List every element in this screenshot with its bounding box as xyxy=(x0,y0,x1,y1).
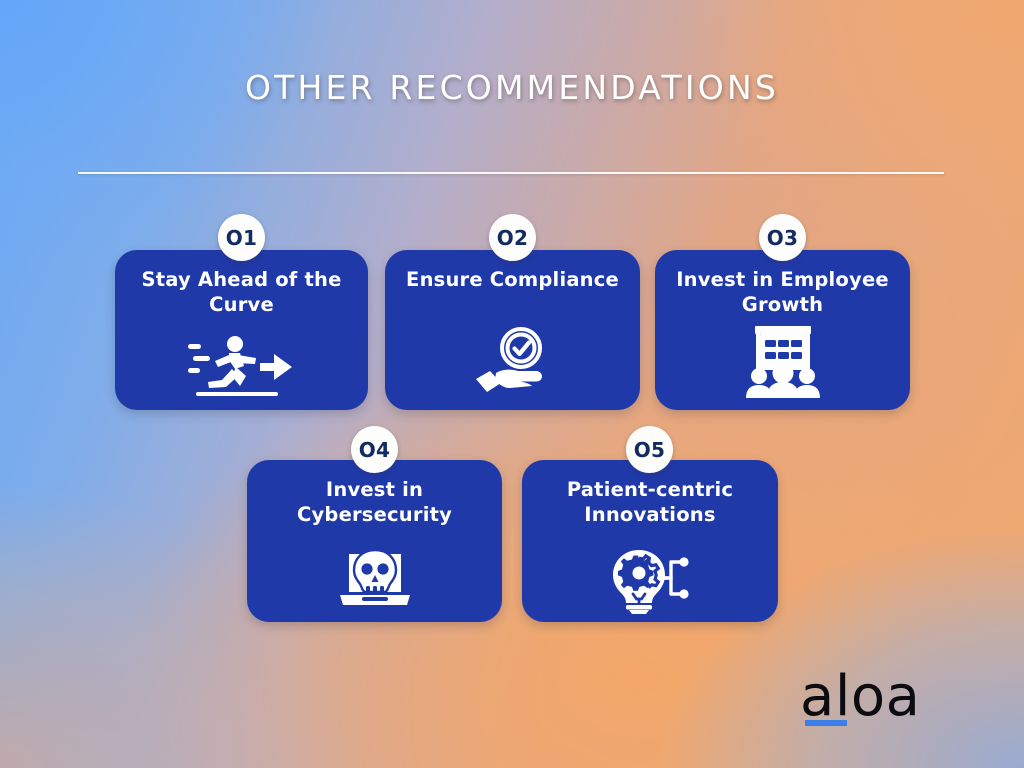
card-title-2: Ensure Compliance xyxy=(399,267,626,292)
training-presentation-people-icon xyxy=(655,326,910,398)
recommendation-card-4[interactable]: Invest in Cybersecurity xyxy=(247,460,502,622)
card-title-4: Invest in Cybersecurity xyxy=(261,477,488,527)
aloa-logo: aloa xyxy=(800,672,930,734)
lightbulb-gear-circuit-icon xyxy=(522,548,778,614)
recommendation-card-3[interactable]: Invest in Employee Growth xyxy=(655,250,910,410)
skull-laptop-icon xyxy=(247,548,502,610)
title-divider xyxy=(78,172,944,174)
card-badge-4: O4 xyxy=(351,426,398,473)
hand-checkmark-icon xyxy=(385,326,640,398)
logo-wordmark: aloa xyxy=(800,672,930,722)
card-badge-1: O1 xyxy=(218,214,265,261)
logo-underline-accent xyxy=(805,720,847,726)
card-badge-3: O3 xyxy=(759,214,806,261)
slide-canvas: OTHER RECOMMENDATIONS O1 Stay Ahead of t… xyxy=(0,0,1024,768)
running-person-arrow-icon xyxy=(115,336,368,398)
card-title-5: Patient-centric Innovations xyxy=(536,477,764,527)
card-badge-2: O2 xyxy=(489,214,536,261)
recommendation-card-5[interactable]: Patient-centric Innovations xyxy=(522,460,778,622)
slide-title: OTHER RECOMMENDATIONS xyxy=(0,68,1024,107)
card-title-1: Stay Ahead of the Curve xyxy=(129,267,354,317)
card-badge-5: O5 xyxy=(626,426,673,473)
card-title-3: Invest in Employee Growth xyxy=(669,267,896,317)
recommendation-card-1[interactable]: Stay Ahead of the Curve xyxy=(115,250,368,410)
recommendation-card-2[interactable]: Ensure Compliance xyxy=(385,250,640,410)
